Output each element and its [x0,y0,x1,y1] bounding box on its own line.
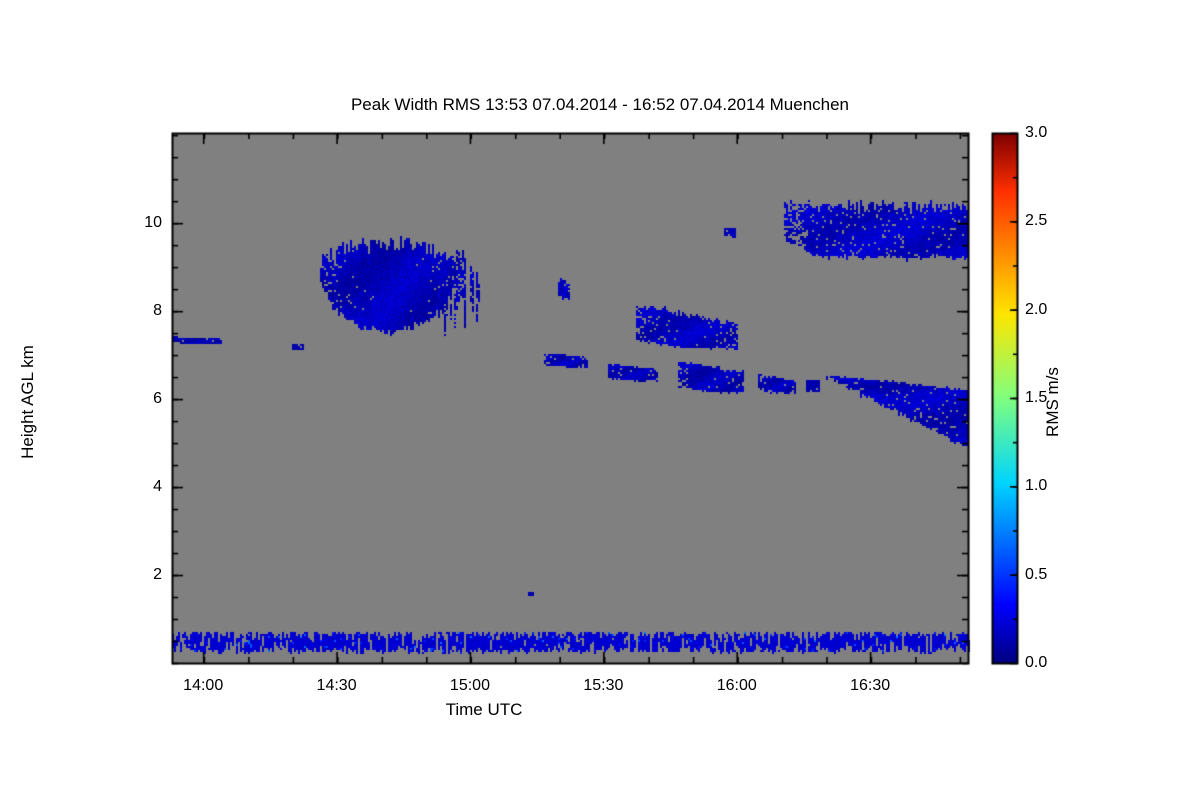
x-tick-label: 14:30 [317,677,357,695]
y-tick-label: 2 [118,566,162,584]
x-tick-label: 16:30 [850,677,890,695]
figure-root: Peak Width RMS 13:53 07.04.2014 - 16:52 … [0,0,1200,800]
colorbar-tick-label: 2.0 [1025,301,1047,319]
x-tick-label: 14:00 [183,677,223,695]
colorbar-tick-label: 0.5 [1025,566,1047,584]
colorbar-tick-label: 1.5 [1025,389,1047,407]
y-axis-label: Height AGL km [18,252,38,552]
x-tick-label: 15:30 [583,677,623,695]
colorbar-tick-label: 1.0 [1025,477,1047,495]
colorbar-tick-label: 2.5 [1025,212,1047,230]
y-tick-label: 6 [118,390,162,408]
y-tick-label: 10 [118,214,162,232]
page-title: Peak Width RMS 13:53 07.04.2014 - 16:52 … [0,95,1200,115]
x-axis-label: Time UTC [0,700,968,720]
colorbar-tick-label: 0.0 [1025,654,1047,672]
y-tick-label: 4 [118,478,162,496]
x-tick-label: 15:00 [450,677,490,695]
x-tick-label: 16:00 [717,677,757,695]
colorbar-tick-label: 3.0 [1025,124,1047,142]
y-tick-label: 8 [118,302,162,320]
